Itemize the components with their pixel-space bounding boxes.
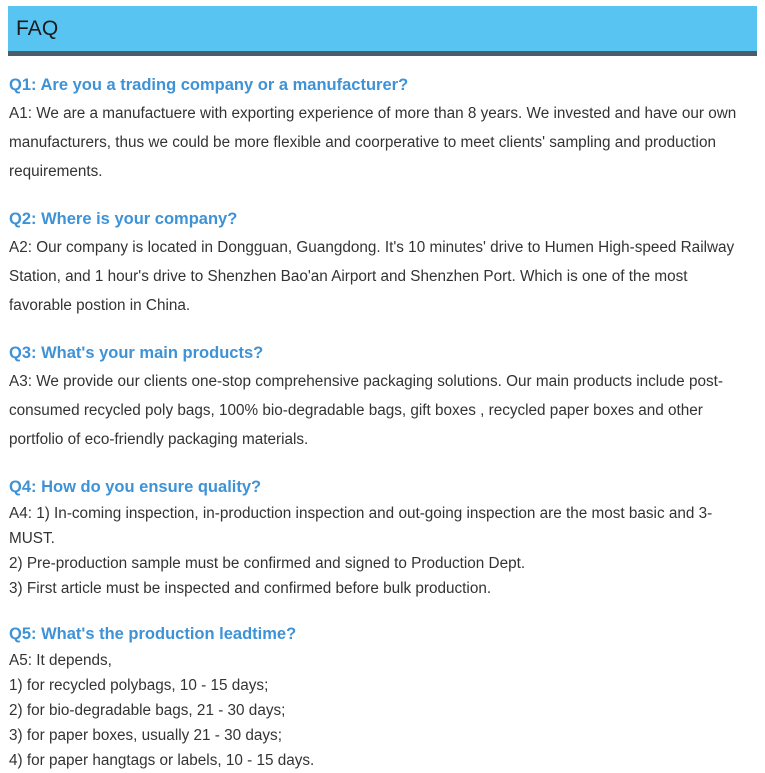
page-title: FAQ	[8, 18, 58, 39]
faq-item: Q5: What's the production leadtime? A5: …	[9, 623, 750, 773]
faq-header-banner: FAQ	[8, 6, 757, 56]
faq-question: Q3: What's your main products?	[9, 342, 750, 364]
faq-answer-line: 3) First article must be inspected and c…	[9, 576, 750, 601]
faq-question: Q1: Are you a trading company or a manuf…	[9, 74, 750, 96]
faq-item: Q1: Are you a trading company or a manuf…	[9, 74, 750, 186]
faq-answer-line: 3) for paper boxes, usually 21 - 30 days…	[9, 723, 750, 748]
faq-item: Q2: Where is your company? A2: Our compa…	[9, 208, 750, 320]
faq-answer: A5: It depends,	[9, 648, 750, 673]
faq-answer: A4: 1) In-coming inspection, in-producti…	[9, 501, 750, 551]
faq-answer: A1: We are a manufactuere with exporting…	[9, 99, 750, 186]
faq-item: Q3: What's your main products? A3: We pr…	[9, 342, 750, 454]
faq-answer: A2: Our company is located in Dongguan, …	[9, 233, 750, 320]
faq-answer-line: 4) for paper hangtags or labels, 10 - 15…	[9, 748, 750, 773]
faq-question: Q5: What's the production leadtime?	[9, 623, 750, 645]
faq-answer-lines: 1) for recycled polybags, 10 - 15 days; …	[9, 673, 750, 773]
faq-list: Q1: Are you a trading company or a manuf…	[0, 74, 765, 773]
faq-question: Q4: How do you ensure quality?	[9, 476, 750, 498]
faq-answer-line: 2) for bio-degradable bags, 21 - 30 days…	[9, 698, 750, 723]
faq-answer-line: 2) Pre-production sample must be confirm…	[9, 551, 750, 576]
faq-answer: A3: We provide our clients one-stop comp…	[9, 367, 750, 454]
faq-answer-line: 1) for recycled polybags, 10 - 15 days;	[9, 673, 750, 698]
faq-question: Q2: Where is your company?	[9, 208, 750, 230]
faq-answer-lines: 2) Pre-production sample must be confirm…	[9, 551, 750, 601]
faq-item: Q4: How do you ensure quality? A4: 1) In…	[9, 476, 750, 601]
faq-page: FAQ Q1: Are you a trading company or a m…	[0, 6, 765, 754]
